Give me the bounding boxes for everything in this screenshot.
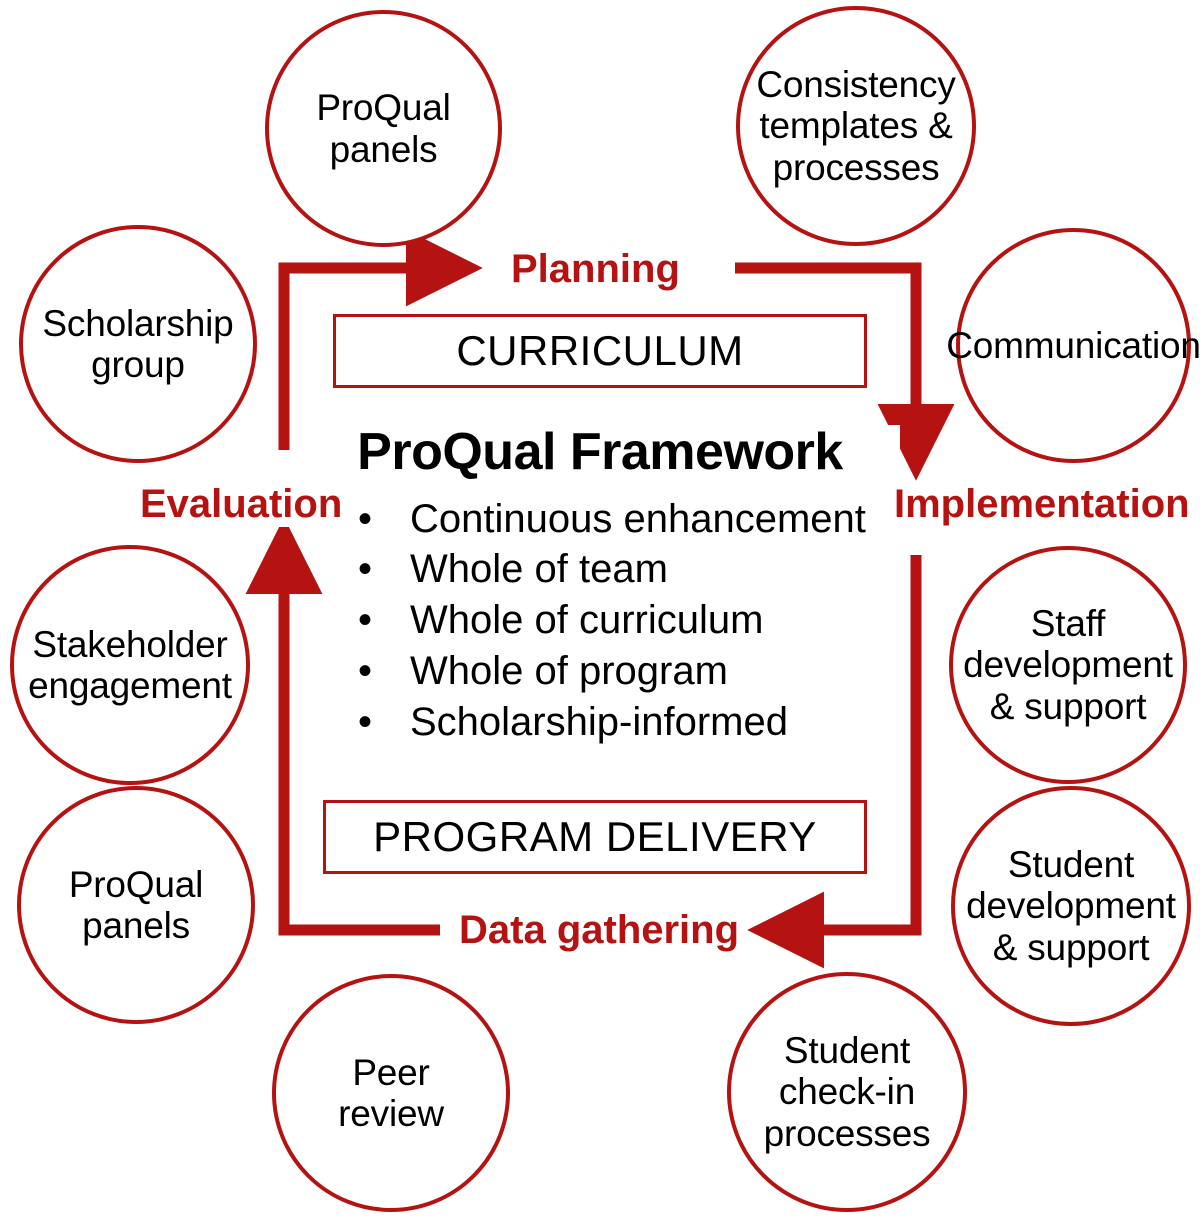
circle-staff-development-support: Staff development & support [949,546,1187,784]
circle-consistency-templates-processes: Consistency templates & processes [736,6,976,246]
list-item-label: Whole of program [410,649,728,693]
circle-peer-review: Peer review [272,974,510,1212]
circle-proqual-panels-bottom: ProQual panels [17,786,255,1024]
list-item-label: Continuous enhancement [410,497,866,541]
circle-proqual-panels-top: ProQual panels [265,10,502,247]
program-delivery-box: PROGRAM DELIVERY [323,800,867,874]
list-item: • Whole of team [358,544,900,595]
page-title: ProQual Framework [300,425,900,480]
circle-label: Student development & support [955,844,1187,968]
circle-label: ProQual panels [67,864,205,947]
proqual-framework-diagram: Planning Implementation Data gathering E… [0,0,1200,1217]
circle-label: Communication [944,325,1200,366]
circle-label: Staff development & support [953,603,1183,727]
framework-principles-list: • Continuous enhancement • Whole of team… [300,494,900,748]
list-item: • Continuous enhancement [358,494,900,545]
list-item: • Scholarship-informed [358,697,900,748]
curriculum-label: CURRICULUM [456,327,743,375]
circle-scholarship-group: Scholarship group [19,225,257,463]
bullet-icon: • [358,494,372,545]
circle-student-check-in-processes: Student check-in processes [727,972,967,1212]
list-item-label: Scholarship-informed [410,700,788,744]
curriculum-box: CURRICULUM [333,314,867,388]
circle-label: Peer review [336,1052,446,1135]
circle-stakeholder-engagement: Stakeholder engagement [10,545,250,785]
circle-label: Stakeholder engagement [14,624,246,707]
list-item-label: Whole of team [410,547,668,591]
stage-label-data-gathering: Data gathering [453,908,745,953]
bullet-icon: • [358,697,372,748]
circle-student-development-support: Student development & support [951,786,1191,1026]
circle-communication: Communication [956,228,1191,463]
stage-label-implementation: Implementation [888,482,1196,527]
circle-label: Student check-in processes [762,1030,933,1154]
circle-label: Scholarship group [40,303,235,386]
bullet-icon: • [358,544,372,595]
stage-label-planning: Planning [505,247,686,292]
bullet-icon: • [358,646,372,697]
list-item-label: Whole of curriculum [410,598,763,642]
circle-label: ProQual panels [314,87,452,170]
list-item: • Whole of curriculum [358,595,900,646]
program-delivery-label: PROGRAM DELIVERY [373,813,817,861]
framework-core: ProQual Framework • Continuous enhanceme… [300,425,900,748]
circle-label: Consistency templates & processes [754,64,957,188]
bullet-icon: • [358,595,372,646]
list-item: • Whole of program [358,646,900,697]
